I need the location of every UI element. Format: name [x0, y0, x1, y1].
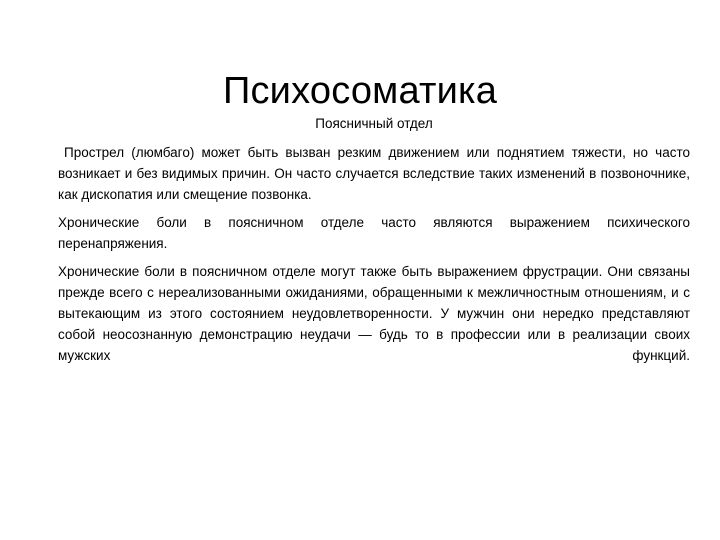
body-paragraph-3: Хронические боли в поясничном отделе мог…	[58, 261, 690, 387]
body-paragraph-1: Прострел (люмбаго) может быть вызван рез…	[58, 142, 690, 205]
page-title: Психосоматика	[0, 69, 720, 113]
body-paragraph-2: Хронические боли в поясничном отделе час…	[58, 212, 690, 254]
content-body: Поясничный отдел Прострел (люмбаго) може…	[58, 113, 690, 387]
subtitle: Поясничный отдел	[58, 113, 690, 134]
slide-canvas: Психосоматика Поясничный отдел Прострел …	[0, 0, 720, 540]
